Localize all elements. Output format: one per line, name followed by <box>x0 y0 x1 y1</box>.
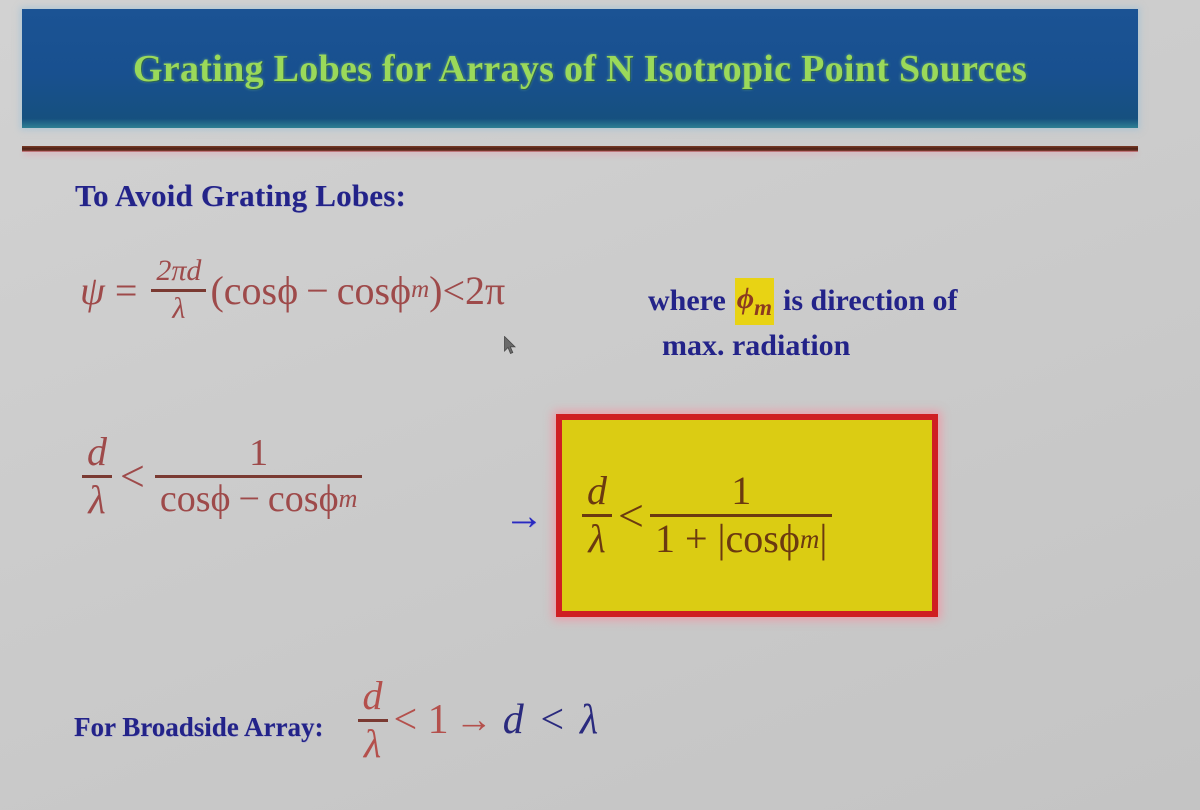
boxed-rhs-den-prefix: 1 + |cosϕ <box>655 519 800 560</box>
phi-m-highlight: ϕm <box>735 278 774 325</box>
boxed-rhs-fraction: 1 1 + |cosϕ m | <box>650 471 832 560</box>
phi-m-subscript: m <box>754 295 772 320</box>
where-prefix: where <box>648 280 726 323</box>
bottom-relation: < 1 <box>392 696 451 744</box>
bottom-result-relation: < <box>530 696 574 744</box>
equation-psi-fraction: 2πd λ <box>151 256 206 324</box>
broadside-array-row: For Broadside Array: d λ < 1 → d < λ <box>74 690 598 765</box>
boxed-rhs-denominator: 1 + |cosϕ m | <box>650 519 832 560</box>
highlighted-result-box: d λ < 1 1 + |cosϕ m | <box>556 414 938 617</box>
equation-psi-term1: cosϕ <box>224 267 298 314</box>
subheading: To Avoid Grating Lobes: <box>75 178 406 214</box>
equation-psi-fraction-denominator: λ <box>167 294 190 325</box>
eq2-rhs-denominator: cosϕ − cosϕ m <box>155 480 363 519</box>
bottom-fraction: d λ <box>358 676 388 765</box>
eq2-rhs-den-term1: cosϕ <box>160 480 231 519</box>
eq2-rhs-den-term2: cosϕ <box>268 480 339 519</box>
eq2-rhs-den-minus: − <box>230 480 267 519</box>
equation-psi-open-paren: ( <box>210 267 223 314</box>
boxed-lhs-numerator: d <box>582 471 612 512</box>
equation-psi-close-paren: ) <box>429 267 442 314</box>
bottom-result-rhs: λ <box>580 696 598 744</box>
broadside-array-equation: d λ < 1 → d < λ <box>354 676 599 765</box>
slide-canvas: Grating Lobes for Arrays of N Isotropic … <box>0 0 1200 810</box>
boxed-rhs-den-subscript: m <box>800 526 820 554</box>
boxed-equation: d λ < 1 1 + |cosϕ m | <box>578 471 836 560</box>
title-divider-rule <box>22 146 1138 152</box>
page-title: Grating Lobes for Arrays of N Isotropic … <box>133 47 1027 91</box>
where-line-1-suffix: is direction of <box>783 280 957 323</box>
where-line-2: max. radiation <box>662 325 957 368</box>
eq2-lhs-denominator: λ <box>83 480 110 521</box>
equation-psi-relation: <2π <box>442 267 505 314</box>
eq2-relation: < <box>116 451 149 502</box>
eq2-lhs-numerator: d <box>82 432 112 473</box>
eq2-rhs-den-subscript: m <box>339 486 358 513</box>
equation-d-over-lambda: d λ < 1 cosϕ − cosϕ m <box>78 432 368 521</box>
where-annotation: where ϕm is direction of max. radiation <box>648 278 957 367</box>
equation-psi-fraction-numerator: 2πd <box>151 256 206 287</box>
equation-psi-lhs: ψ <box>80 267 105 314</box>
boxed-lhs-fraction: d λ <box>582 471 612 560</box>
equation-psi: ψ = 2πd λ ( cosϕ − cosϕ m ) <2π <box>80 256 505 324</box>
equation-psi-term2: cosϕ <box>337 267 411 314</box>
title-banner: Grating Lobes for Arrays of N Isotropic … <box>22 9 1138 128</box>
eq2-rhs-fraction: 1 cosϕ − cosϕ m <box>155 434 363 519</box>
mouse-cursor-icon <box>504 336 516 356</box>
bottom-fraction-denominator: λ <box>359 724 386 765</box>
eq2-rhs-numerator: 1 <box>244 434 273 473</box>
boxed-lhs-denominator: λ <box>583 519 610 560</box>
boxed-rhs-numerator: 1 <box>726 471 756 512</box>
implication-arrow-icon: → <box>504 492 544 539</box>
boxed-rhs-den-suffix: | <box>819 519 827 560</box>
eq2-lhs-fraction: d λ <box>82 432 112 521</box>
broadside-array-label: For Broadside Array: <box>74 712 324 743</box>
phi-m-symbol: ϕ <box>737 282 754 315</box>
boxed-relation: < <box>616 489 646 542</box>
bottom-result-lhs: d <box>503 696 524 744</box>
bottom-arrow-icon: → <box>451 698 497 742</box>
equation-psi-equals: = <box>105 267 148 314</box>
where-line-1: where ϕm is direction of <box>648 278 957 325</box>
equation-psi-term2-subscript: m <box>411 276 429 304</box>
bottom-fraction-numerator: d <box>358 676 388 717</box>
equation-psi-minus: − <box>298 267 337 314</box>
